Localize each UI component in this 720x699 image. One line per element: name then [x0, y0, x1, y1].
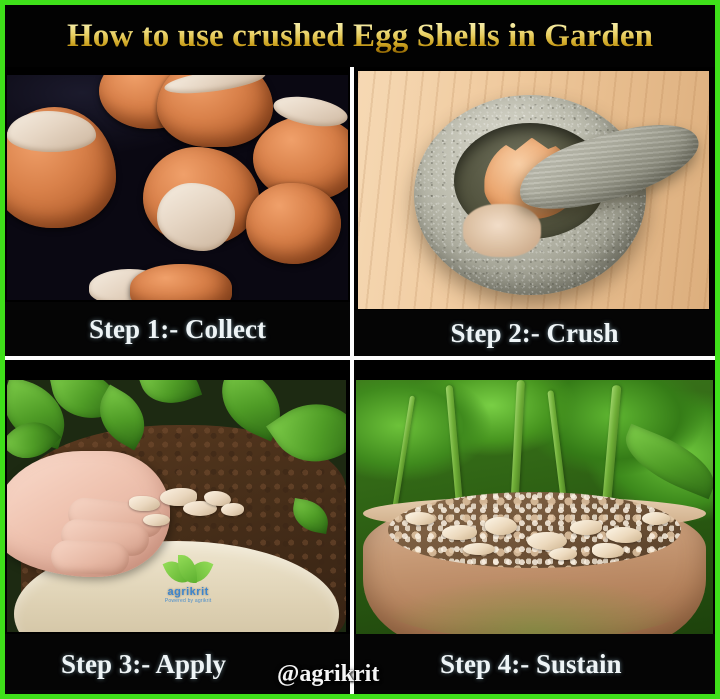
step-4-caption: Step 4:- Sustain — [354, 634, 715, 694]
mortar-pestle-photo — [358, 71, 709, 309]
vertical-divider — [350, 67, 354, 694]
steps-grid: Step 1:- Collect Step 2:- Crush — [5, 67, 715, 694]
shell-mulch-flake — [485, 517, 517, 535]
watermark-handle: @agrikrit — [277, 661, 379, 688]
step-2-caption: Step 2:- Crush — [354, 310, 715, 356]
step-card-2: Step 2:- Crush — [354, 67, 715, 356]
shell-mulch-flake — [442, 525, 478, 540]
plant-leaf — [137, 380, 202, 413]
crushed-shell-piece — [129, 496, 160, 511]
horizontal-divider — [5, 356, 715, 360]
hand-finger — [51, 540, 130, 575]
step-1-image — [7, 75, 348, 300]
shell-mulch-flake — [406, 512, 435, 525]
leaf-icon — [166, 555, 210, 585]
step-3-image: agrikrit Powered by agrikrit — [7, 380, 346, 632]
infographic-poster: How to use crushed Egg Shells in Garden — [0, 0, 720, 699]
step-card-1: Step 1:- Collect — [5, 67, 350, 356]
crushed-shell-pile — [463, 204, 540, 256]
crushed-shell-piece — [143, 514, 170, 527]
step-4-image — [356, 380, 713, 634]
shell-mulch-flake — [549, 548, 578, 561]
poster-title: How to use crushed Egg Shells in Garden — [67, 20, 653, 53]
hand-applying-photo: agrikrit Powered by agrikrit — [7, 380, 346, 632]
shell-membrane — [157, 183, 235, 251]
shell-mulch-flake — [570, 520, 602, 535]
pot-moss — [377, 576, 692, 634]
shell-mulch-flake — [606, 527, 642, 542]
step-card-3: agrikrit Powered by agrikrit Step 3:- Ap… — [5, 360, 350, 694]
eggshells-photo — [7, 75, 348, 300]
shell-mulch-flake — [642, 512, 671, 525]
agrikrit-logo: agrikrit Powered by agrikrit — [156, 555, 220, 607]
step-card-4: Step 4:- Sustain — [354, 360, 715, 694]
shell-mulch-flake — [592, 543, 624, 558]
step-2-image — [358, 71, 709, 309]
mulched-pot-photo — [356, 380, 713, 634]
logo-tagline: Powered by agrikrit — [156, 598, 220, 604]
egg-shell — [246, 183, 341, 264]
logo-wordmark: agrikrit — [156, 586, 220, 598]
step-1-caption: Step 1:- Collect — [5, 302, 350, 356]
poster-title-bar: How to use crushed Egg Shells in Garden — [5, 5, 715, 67]
